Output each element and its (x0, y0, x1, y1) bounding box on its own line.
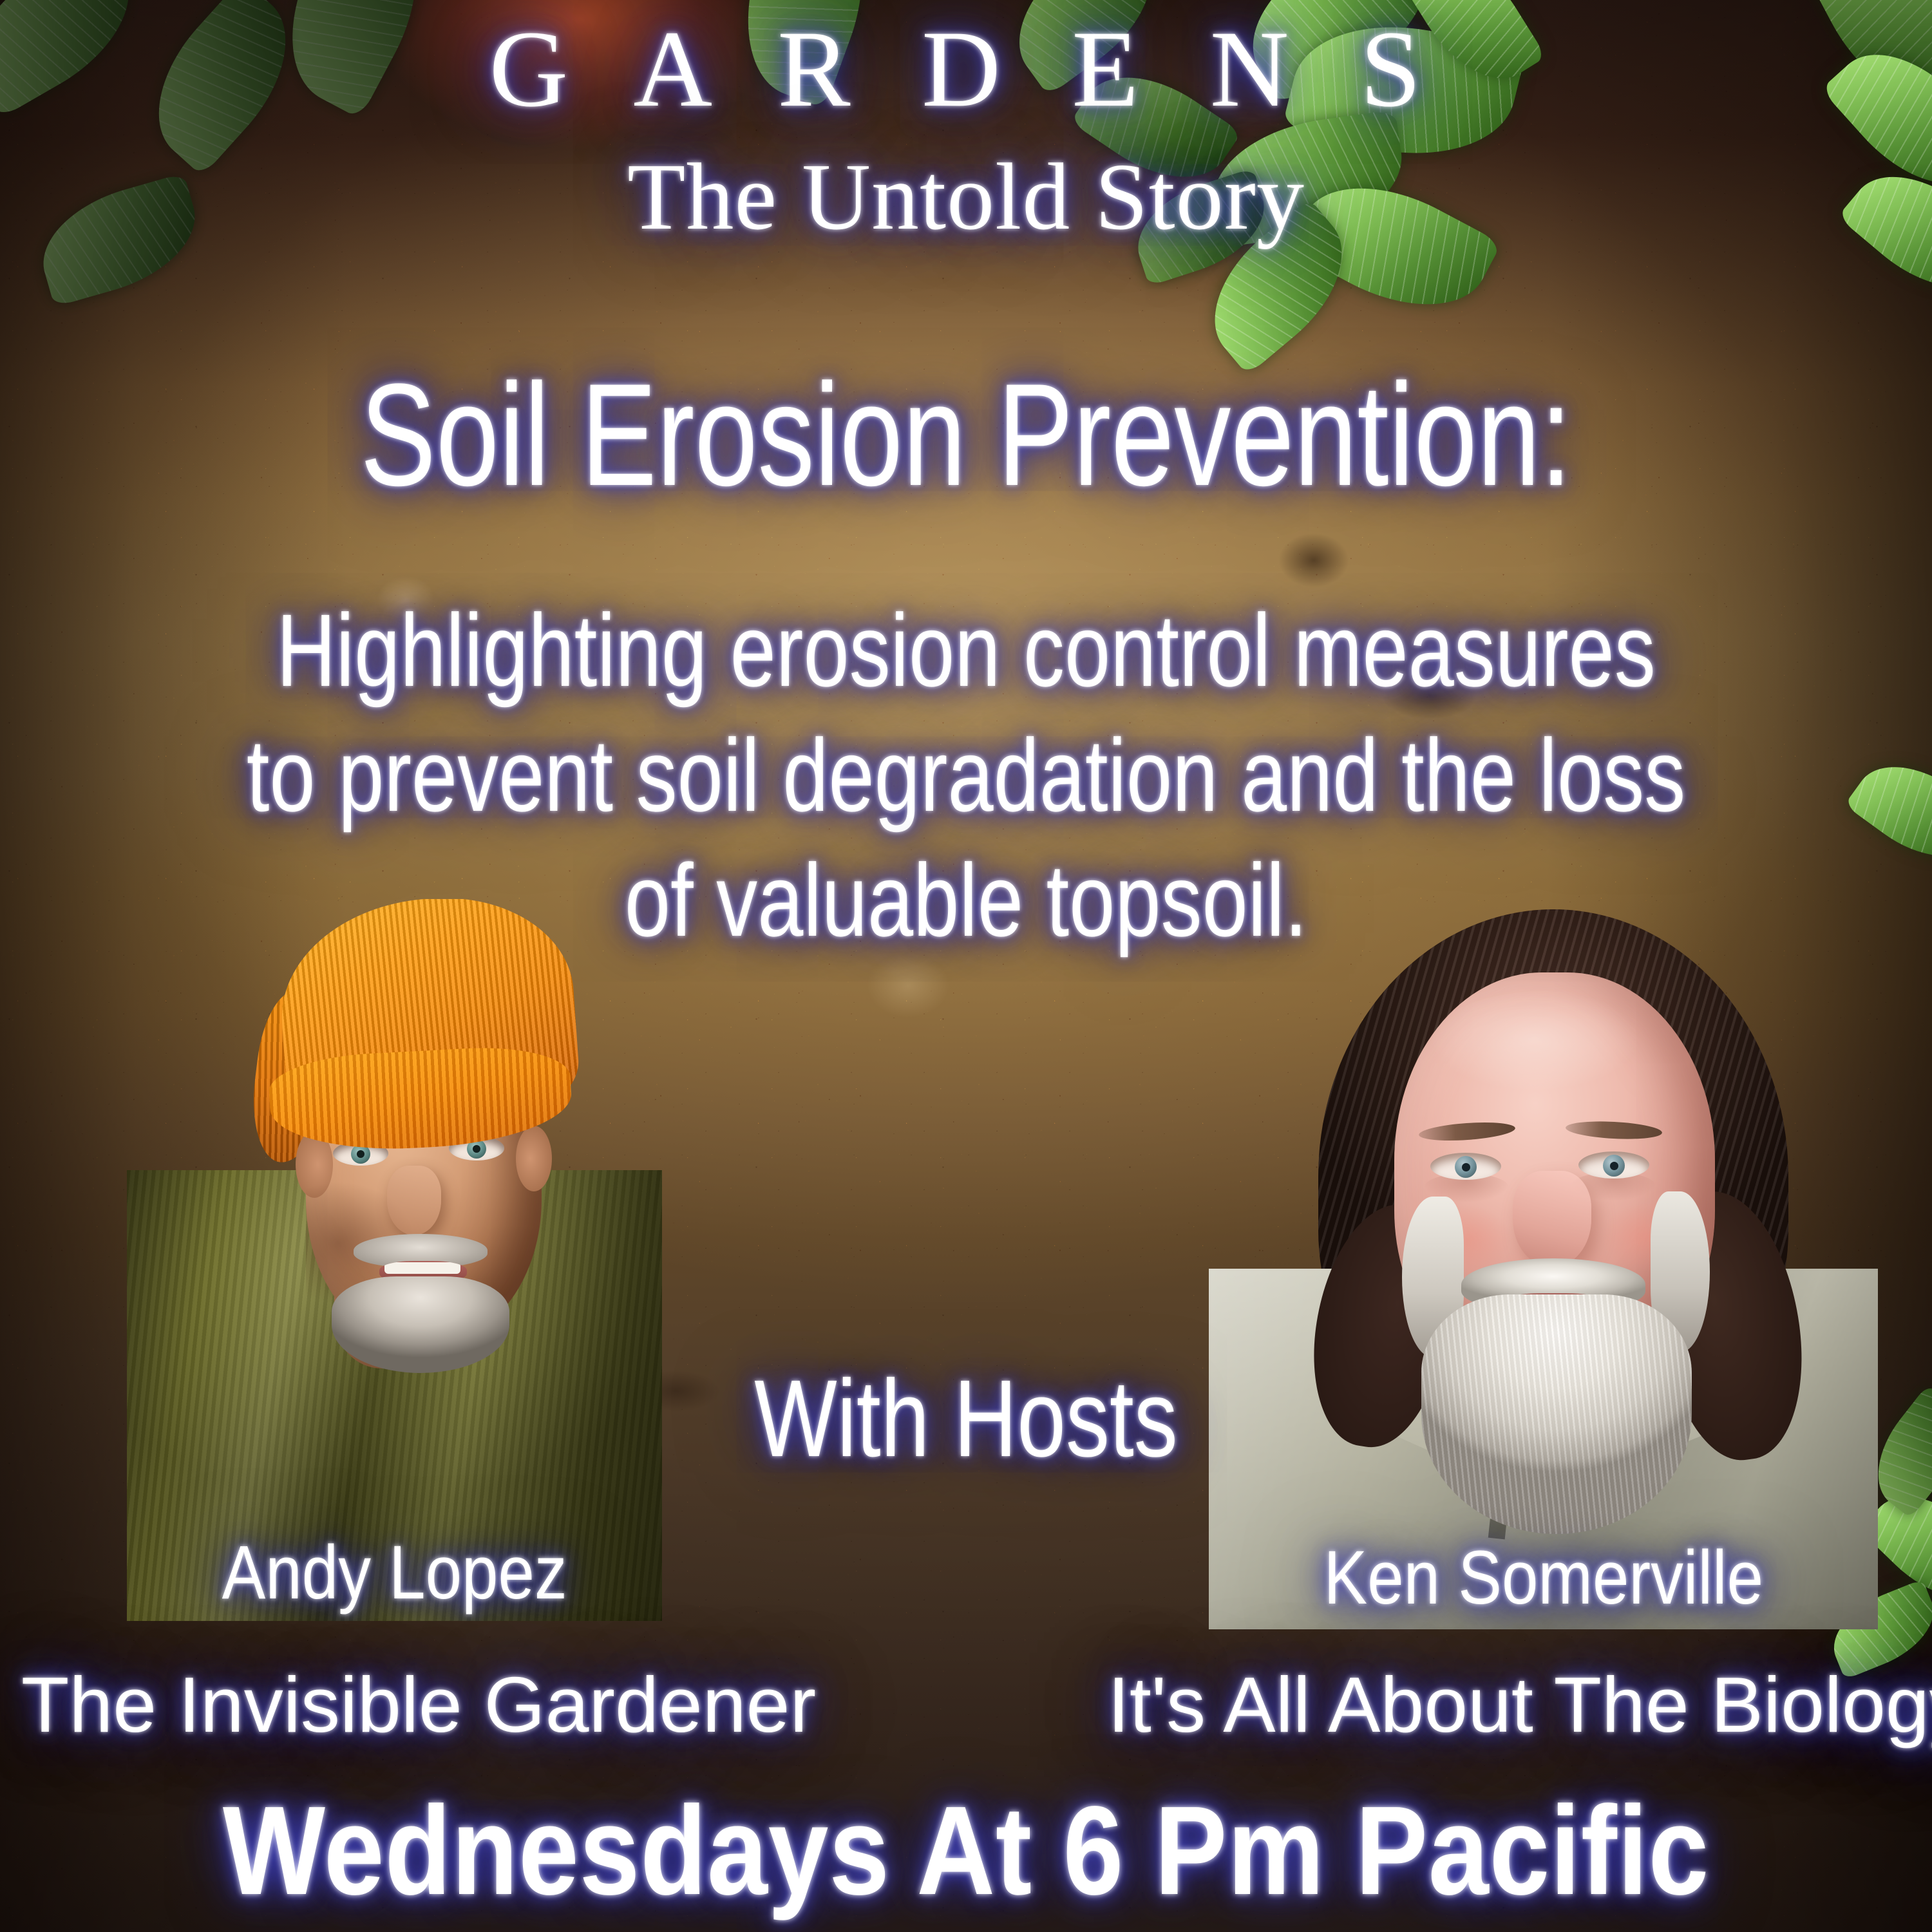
host-tagline-its-all-about-the-biology: It's All About The Biology (1108, 1661, 1932, 1748)
episode-title: Soil Erosion Prevention: (213, 362, 1719, 507)
host-name-band-right: Ken Somerville (1209, 1526, 1878, 1629)
host-portrait-andy-lopez: Andy Lopez (127, 899, 662, 1621)
host-name-ken-somerville: Ken Somerville (1323, 1540, 1763, 1616)
description-line-2: to prevent soil degradation and the loss (193, 724, 1739, 827)
host-name-band-left: Andy Lopez (127, 1524, 662, 1621)
eye-left (1430, 1153, 1501, 1180)
nose (1513, 1171, 1591, 1267)
host-name-andy-lopez: Andy Lopez (222, 1535, 567, 1611)
show-subtitle: The Untold Story (0, 149, 1932, 245)
with-hosts-label: With Hosts (193, 1364, 1739, 1473)
nose (387, 1166, 441, 1235)
schedule-text: Wednesdays At 6 Pm Pacific (135, 1788, 1797, 1914)
iris-right (1603, 1155, 1625, 1177)
iris-left (1455, 1156, 1477, 1178)
forehead-highlight (1421, 990, 1679, 1113)
podcast-episode-poster: G A R D E N S The Untold Story Soil Eros… (0, 0, 1932, 1932)
host-portrait-ken-somerville: Ken Somerville (1209, 900, 1878, 1629)
teeth (384, 1262, 460, 1274)
host-tagline-the-invisible-gardener: The Invisible Gardener (21, 1661, 816, 1748)
page-title: G A R D E N S (0, 14, 1932, 124)
host-tagline-left-wrap: The Invisible Gardener (0, 1665, 837, 1744)
eye-right (1578, 1151, 1649, 1179)
description-line-1: Highlighting erosion control measures (193, 599, 1739, 702)
host-tagline-right-wrap: It's All About The Biology (1108, 1665, 1932, 1744)
beard (332, 1276, 509, 1373)
